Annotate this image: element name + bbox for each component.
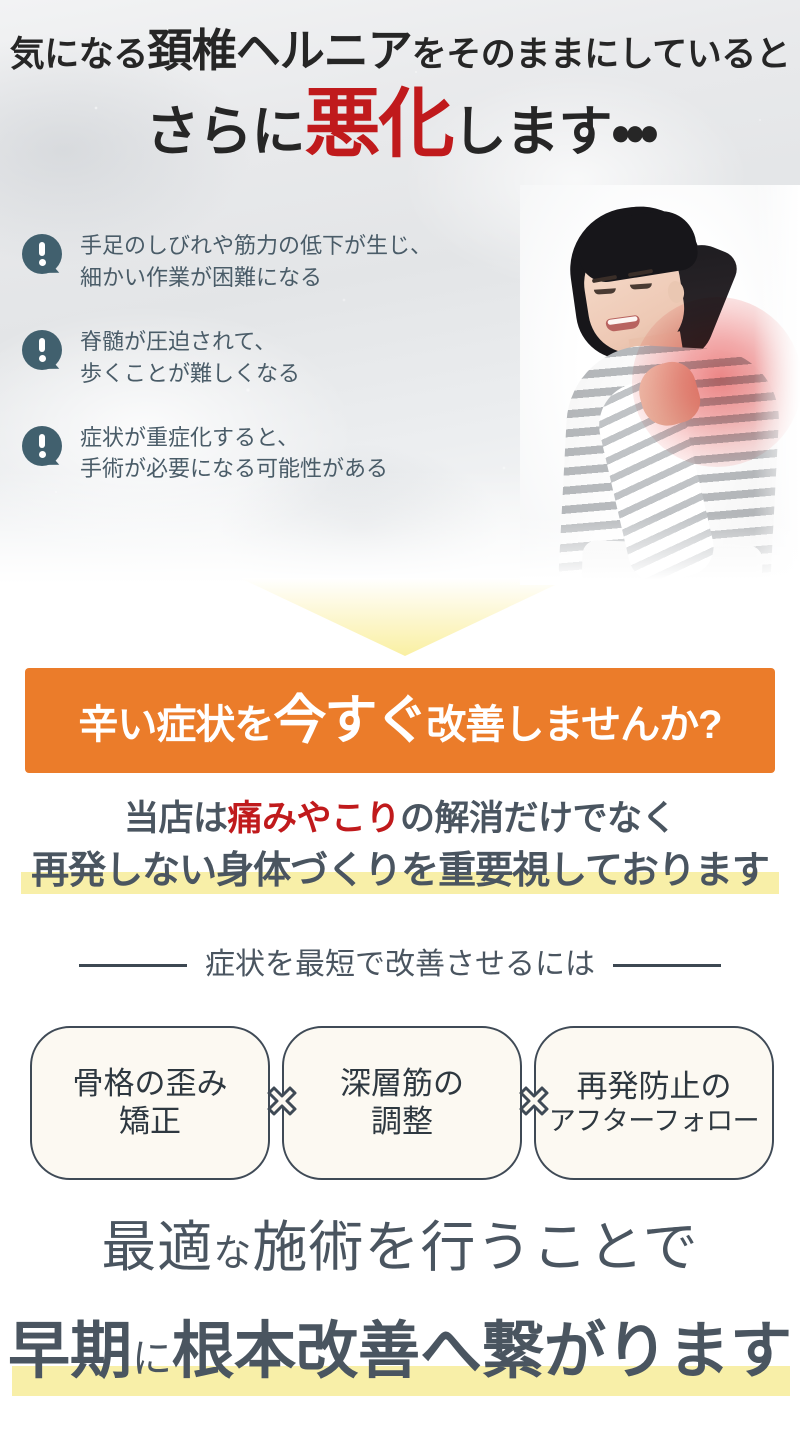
conclusion-line-2: 早期に根本改善へ繋がります (0, 1318, 800, 1386)
headline2-prefix: さらに (145, 102, 304, 162)
mid-copy-row-1: 当店は痛みやこりの解消だけでなく (0, 800, 800, 839)
symptom-line-2: 手術が必要になる可能性がある (80, 453, 388, 485)
exclamation-dot (39, 355, 46, 362)
pillar-3-line-1: 再発防止の (577, 1068, 732, 1106)
conclusion-line-1: 最適な施術を行うことで (0, 1218, 800, 1279)
symptom-list: 手足のしびれや筋力の低下が生じ、 細かい作業が困難になる 脊髄が圧迫されて、 歩… (22, 230, 522, 485)
mid-copy: 当店は痛みやこりの解消だけでなく 再発しない身体づくりを重要視しております (0, 800, 800, 892)
headline2-suffix: します (452, 102, 611, 162)
bubble-tail (47, 262, 62, 276)
headline2-emphasis-red: 悪化 (304, 82, 452, 167)
neck-pain-photo (520, 185, 800, 585)
exclamation-stem (39, 434, 45, 448)
cta-suffix: 改善しませんか? (426, 703, 721, 747)
mid-copy-row-2: 再発しない身体づくりを重要視しております (31, 851, 769, 893)
photo-bottom-fade (520, 515, 800, 585)
conclusion-1b: な (213, 1233, 252, 1275)
symptom-line-1: 症状が重症化すると、 (80, 422, 388, 454)
rule-heading: 症状を最短で改善させるには (0, 950, 800, 980)
exclamation-stem (39, 338, 45, 352)
conclusion-2a: 早期 (8, 1318, 132, 1386)
pillar-card-3[interactable]: 再発防止の アフターフォロー (534, 1026, 774, 1180)
mid-row2-text: 再発しない身体づくりを重要視しております (31, 850, 769, 892)
hero-headline: 気になる頚椎ヘルニアをそのままにしていると さらに悪化します・・・ (0, 28, 800, 163)
symptom-line-1: 脊髄が圧迫されて、 (80, 326, 300, 358)
headline-emphasis: 頚椎ヘルニア (148, 25, 412, 76)
conclusion-row-1: 最適な施術を行うことで (0, 1218, 800, 1279)
headline-suffix: をそのままにしていると (412, 35, 790, 74)
pillar-2-line-2: 調整 (371, 1103, 433, 1141)
pillar-card-1[interactable]: 骨格の歪み 矯正 (30, 1026, 270, 1180)
exclamation-dot (39, 451, 46, 458)
multiply-icon (261, 1080, 303, 1122)
list-item: 手足のしびれや筋力の低下が生じ、 細かい作業が困難になる (22, 230, 522, 294)
mid-row1-suffix: の解消だけでなく (400, 799, 676, 838)
symptom-text: 症状が重症化すると、 手術が必要になる可能性がある (80, 422, 388, 486)
symptom-text: 手足のしびれや筋力の低下が生じ、 細かい作業が困難になる (80, 230, 432, 294)
rule-left (79, 964, 187, 967)
mid-row1-red: 痛みやこり (227, 799, 400, 838)
conclusion-2b: に (132, 1336, 172, 1381)
exclamation-speech-bubble-icon (22, 426, 62, 466)
cta-emphasis: 今すぐ (273, 691, 426, 750)
down-arrow-icon (240, 578, 570, 656)
headline-prefix: 気になる (10, 35, 148, 74)
bubble-tail (47, 358, 62, 372)
mid-row1-prefix: 当店は (124, 799, 228, 838)
headline2-ellipsis: ・・・ (611, 102, 654, 162)
conclusion-1a: 最適 (101, 1217, 213, 1278)
conclusion-1c: 施術を行うことで (252, 1217, 698, 1278)
cta-banner-text: 辛い症状を今すぐ改善しませんか? (78, 694, 721, 747)
symptom-line-2: 歩くことが難しくなる (80, 358, 300, 390)
headline-line-2: さらに悪化します・・・ (0, 87, 800, 163)
list-item: 脊髄が圧迫されて、 歩くことが難しくなる (22, 326, 522, 390)
list-item: 症状が重症化すると、 手術が必要になる可能性がある (22, 422, 522, 486)
exclamation-dot (39, 259, 46, 266)
symptom-text: 脊髄が圧迫されて、 歩くことが難しくなる (80, 326, 300, 390)
pillar-3-line-2: アフターフォロー (549, 1105, 759, 1138)
exclamation-speech-bubble-icon (22, 330, 62, 370)
cta-prefix: 辛い症状を (78, 703, 273, 747)
exclamation-stem (39, 242, 45, 256)
symptom-line-2: 細かい作業が困難になる (80, 262, 432, 294)
rule-right (613, 964, 721, 967)
pillar-2-line-1: 深層筋の (340, 1065, 464, 1103)
landing-page: 気になる頚椎ヘルニアをそのままにしていると さらに悪化します・・・ (0, 0, 800, 1444)
symptom-line-1: 手足のしびれや筋力の低下が生じ、 (80, 230, 432, 262)
multiply-icon (513, 1080, 555, 1122)
rule-heading-label: 症状を最短で改善させるには (205, 950, 595, 980)
headline-line-1: 気になる頚椎ヘルニアをそのままにしていると (0, 28, 800, 73)
conclusion-row-2: 早期に根本改善へ繋がります (0, 1318, 800, 1386)
pillar-1-line-1: 骨格の歪み (73, 1065, 228, 1103)
pillar-1-line-2: 矯正 (119, 1103, 181, 1141)
conclusion-2c: 根本改善へ繋がります (172, 1318, 792, 1386)
pillar-cards: 骨格の歪み 矯正 深層筋の 調整 再発防止の アフターフォロー (30, 1026, 770, 1176)
exclamation-speech-bubble-icon (22, 234, 62, 274)
cta-banner[interactable]: 辛い症状を今すぐ改善しませんか? (25, 668, 775, 773)
pillar-card-2[interactable]: 深層筋の 調整 (282, 1026, 522, 1180)
